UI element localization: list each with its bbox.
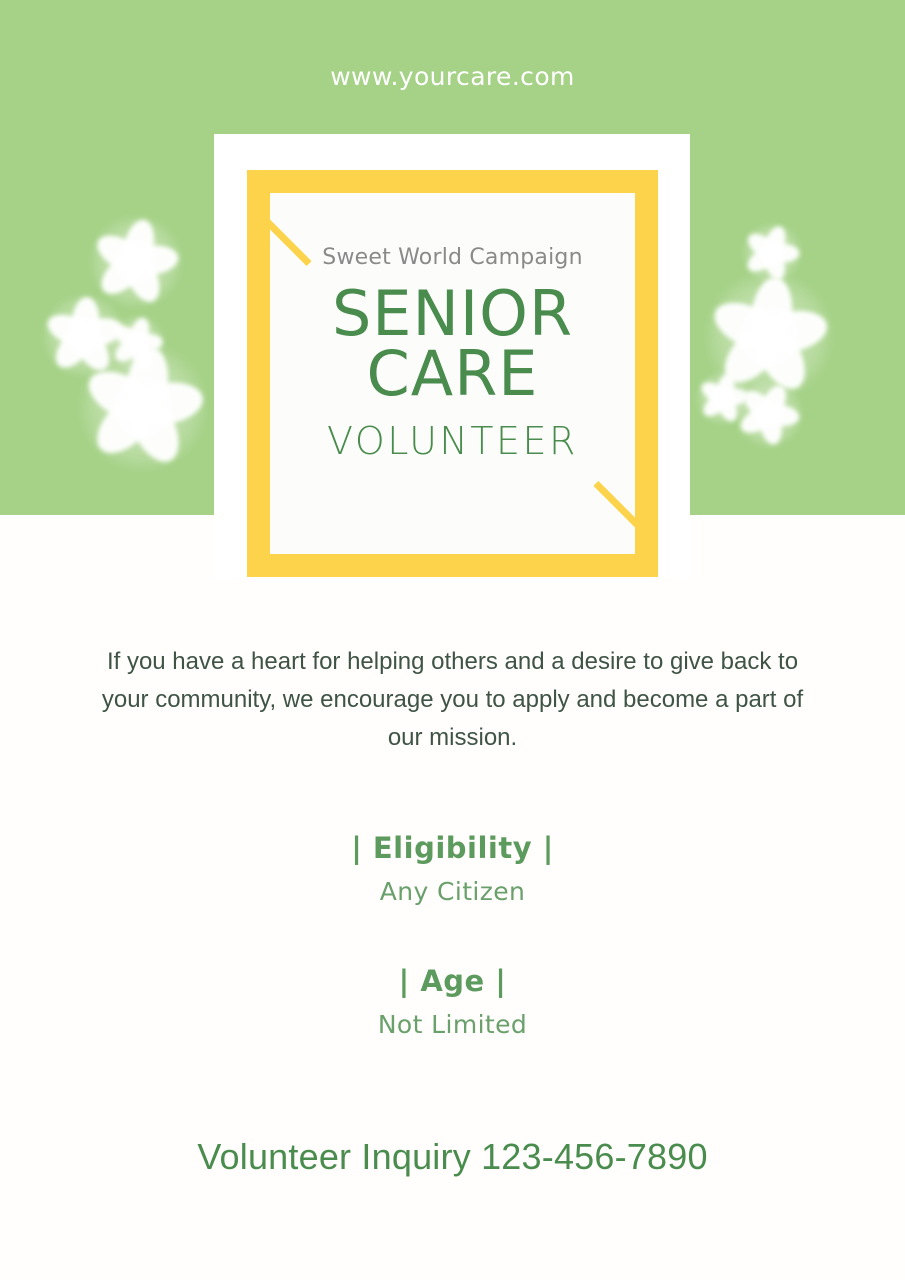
detail-label: | Eligibility | [0,831,905,865]
hero-frame-inner: Sweet World Campaign SENIOR CARE VOLUNTE… [270,193,635,554]
detail-section-age: | Age | Not Limited [0,964,905,1039]
body-paragraph: If you have a heart for helping others a… [88,643,817,757]
detail-value: Not Limited [0,1010,905,1039]
poster-title: SENIOR CARE [270,284,635,403]
detail-label: | Age | [0,964,905,998]
hero-yellow-frame: Sweet World Campaign SENIOR CARE VOLUNTE… [247,170,658,577]
website-url[interactable]: www.yourcare.com [0,62,905,91]
poster-canvas: www.yourcare.com Sweet World Campaign SE… [0,0,905,1280]
hero-text-block: Sweet World Campaign SENIOR CARE VOLUNTE… [270,193,635,463]
poster-title-line2: CARE [270,344,635,404]
detail-value: Any Citizen [0,877,905,906]
campaign-kicker: Sweet World Campaign [270,245,635,270]
poster-subtitle: VOLUNTEER [270,419,635,463]
footer-contact[interactable]: Volunteer Inquiry 123-456-7890 [0,1136,905,1178]
detail-section-eligibility: | Eligibility | Any Citizen [0,831,905,906]
diagonal-slash-icon [593,481,635,534]
